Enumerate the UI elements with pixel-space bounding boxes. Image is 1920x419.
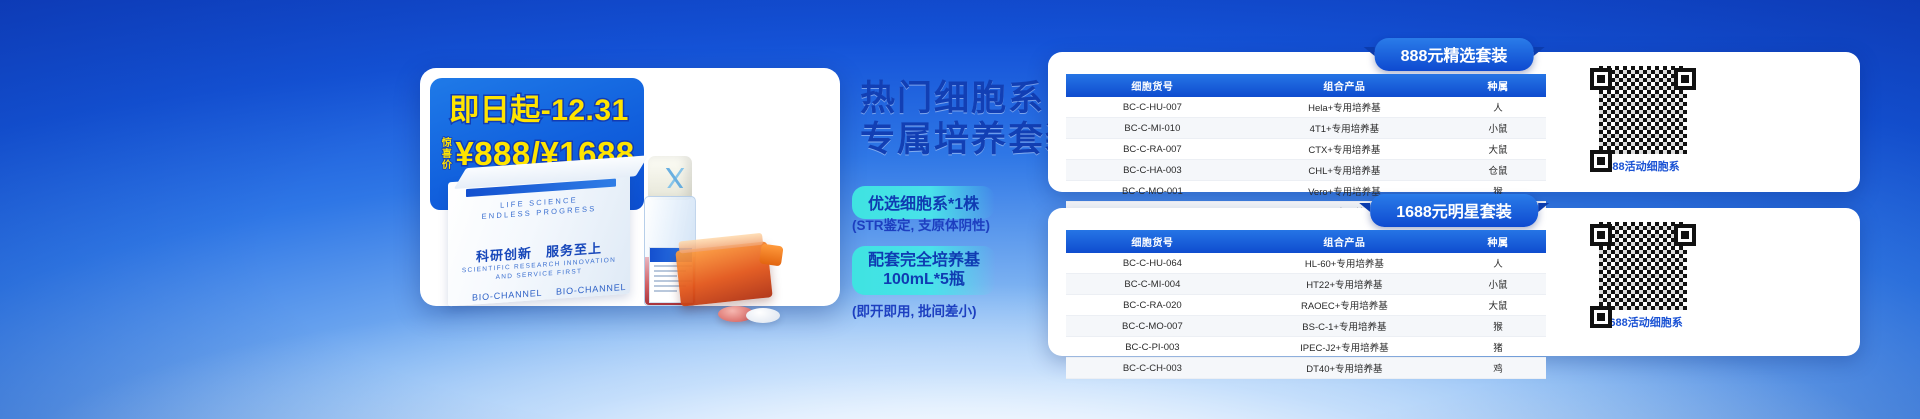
cell-product: BS-C-1+专用培养基 xyxy=(1239,316,1450,337)
product-box-image: LIFE SCIENCE ENDLESS PROGRESS 科研创新 服务至上 … xyxy=(448,170,630,307)
col-header-product: 组合产品 xyxy=(1239,230,1450,253)
table-row: BC-C-RA-007CTX+专用培养基大鼠 xyxy=(1066,139,1546,160)
qr-code-icon-888[interactable] xyxy=(1599,66,1687,154)
cell-code: BC-C-HA-003 xyxy=(1066,160,1239,181)
table-row: BC-C-MI-0104T1+专用培养基小鼠 xyxy=(1066,118,1546,139)
cell-species: 小鼠 xyxy=(1450,118,1546,139)
cell-code: BC-C-MI-004 xyxy=(1066,274,1239,295)
cell-code: BC-C-RA-020 xyxy=(1066,295,1239,316)
table-row: BC-C-MI-004HT22+专用培养基小鼠 xyxy=(1066,274,1546,295)
cell-product: Hela+专用培养基 xyxy=(1239,97,1450,118)
table-row: BC-C-HA-003CHL+专用培养基仓鼠 xyxy=(1066,160,1546,181)
cell-species: 人 xyxy=(1450,97,1546,118)
cell-code: BC-C-HU-007 xyxy=(1066,97,1239,118)
bottle-label-text-line xyxy=(654,275,677,277)
qr-block-888[interactable]: 888活动细胞系 xyxy=(1588,66,1698,174)
product-showcase-card: 即日起-12.31 惊喜价 ¥888/¥1688 LIFE SCIENCE EN… xyxy=(420,68,840,306)
cell-product: 4T1+专用培养基 xyxy=(1239,118,1450,139)
cell-species: 猴 xyxy=(1450,316,1546,337)
table-row: BC-C-HU-007Hela+专用培养基人 xyxy=(1066,97,1546,118)
cell-code: BC-C-RA-007 xyxy=(1066,139,1239,160)
feature-medium-line-2: 100mL*5瓶 xyxy=(868,270,980,289)
cell-product: DT40+专用培养基 xyxy=(1239,358,1450,379)
cell-product: CHL+专用培养基 xyxy=(1239,160,1450,181)
flask-cap xyxy=(759,244,784,267)
bottle-label-text-line xyxy=(654,290,677,292)
feature-note-medium: (即开即用, 批间差小) xyxy=(852,300,977,320)
cell-species: 猪 xyxy=(1450,337,1546,358)
qr-block-1688[interactable]: 1688活动细胞系 xyxy=(1588,222,1698,330)
table-row: BC-C-HU-064HL-60+专用培养基人 xyxy=(1066,253,1546,274)
culture-flask-image xyxy=(675,241,772,306)
qr-code-icon-1688[interactable] xyxy=(1599,222,1687,310)
cell-code: BC-C-HU-064 xyxy=(1066,253,1239,274)
petri-dish-white xyxy=(746,308,780,323)
cell-species: 小鼠 xyxy=(1450,274,1546,295)
cell-product: CTX+专用培养基 xyxy=(1239,139,1450,160)
table-row: BC-C-MO-007BS-C-1+专用培养基猴 xyxy=(1066,316,1546,337)
feature-badge-medium: 配套完全培养基 100mL*5瓶 xyxy=(852,246,996,295)
table-header-row: 细胞货号 组合产品 种属 xyxy=(1066,230,1546,253)
box-brand-right: BIO-CHANNEL xyxy=(556,282,626,297)
feature-medium-line-1: 配套完全培养基 xyxy=(868,251,980,270)
table-row: BC-C-CH-003DT40+专用培养基鸡 xyxy=(1066,358,1546,379)
bottle-cap-logo-icon xyxy=(657,168,693,188)
cell-code: BC-C-MO-007 xyxy=(1066,316,1239,337)
cell-code: BC-C-MI-010 xyxy=(1066,118,1239,139)
cell-code: BC-C-MO-001 xyxy=(1066,181,1239,202)
cell-species: 人 xyxy=(1450,253,1546,274)
feature-note-cell-line: (STR鉴定, 支原体阴性) xyxy=(852,214,990,234)
package-badge-1688: 1688元明星套装 xyxy=(1370,194,1538,227)
cell-species: 鸡 xyxy=(1450,358,1546,379)
cell-product: HT22+专用培养基 xyxy=(1239,274,1450,295)
cell-code: BC-C-PI-003 xyxy=(1066,337,1239,358)
package-table-1688: 细胞货号 组合产品 种属 BC-C-HU-064HL-60+专用培养基人 BC-… xyxy=(1066,230,1546,379)
col-header-species: 种属 xyxy=(1450,74,1546,97)
table-row: BC-C-PI-003IPEC-J2+专用培养基猪 xyxy=(1066,337,1546,358)
cell-code: BC-C-CH-003 xyxy=(1066,358,1239,379)
cell-product: IPEC-J2+专用培养基 xyxy=(1239,337,1450,358)
col-header-product: 组合产品 xyxy=(1239,74,1450,97)
package-badge-888: 888元精选套装 xyxy=(1375,38,1534,71)
cell-species: 大鼠 xyxy=(1450,139,1546,160)
product-photo-group: LIFE SCIENCE ENDLESS PROGRESS 科研创新 服务至上 … xyxy=(420,68,840,306)
cell-product: RAOEC+专用培养基 xyxy=(1239,295,1450,316)
cell-species: 仓鼠 xyxy=(1450,160,1546,181)
col-header-code: 细胞货号 xyxy=(1066,230,1239,253)
table-row: BC-C-RA-020RAOEC+专用培养基大鼠 xyxy=(1066,295,1546,316)
box-brand-left: BIO-CHANNEL xyxy=(472,288,542,303)
package-card-888: 888元精选套装 细胞货号 组合产品 种属 BC-C-HU-007Hela+专用… xyxy=(1048,52,1860,192)
col-header-code: 细胞货号 xyxy=(1066,74,1239,97)
col-header-species: 种属 xyxy=(1450,230,1546,253)
table-header-row: 细胞货号 组合产品 种属 xyxy=(1066,74,1546,97)
cell-product: HL-60+专用培养基 xyxy=(1239,253,1450,274)
cell-species: 大鼠 xyxy=(1450,295,1546,316)
package-card-1688: 1688元明星套装 细胞货号 组合产品 种属 BC-C-HU-064HL-60+… xyxy=(1048,208,1860,356)
bottle-cap xyxy=(648,156,692,200)
